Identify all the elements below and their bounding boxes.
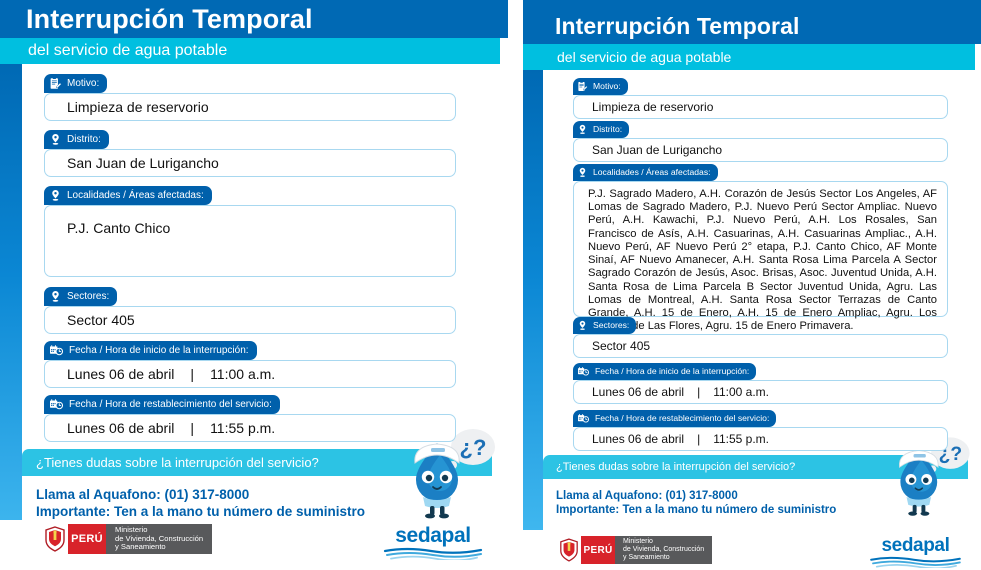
field-value-fecha-inicio[interactable]: Lunes 06 de abril | 11:00 a.m. bbox=[44, 360, 456, 388]
field-label-text: Motivo: bbox=[593, 82, 621, 91]
value-separator: | bbox=[697, 385, 700, 399]
peru-ministry-logo: PERÚ Ministerio de Vivienda, Construcció… bbox=[557, 536, 712, 564]
value-text: Limpieza de reservorio bbox=[67, 99, 209, 115]
field-label-text: Motivo: bbox=[67, 79, 99, 89]
field-label-pill-localidades: Localidades / Áreas afectadas: bbox=[573, 164, 718, 181]
value-text: San Juan de Lurigancho bbox=[592, 143, 722, 157]
notice-panel-right: Interrupción Temporal del servicio de ag… bbox=[523, 0, 981, 570]
left-gradient-strip bbox=[523, 70, 543, 530]
field-value-fecha-restablecimiento[interactable]: Lunes 06 de abril | 11:55 p.m. bbox=[573, 427, 948, 451]
field-label-text: Localidades / Áreas afectadas: bbox=[67, 191, 204, 201]
field-value-distrito[interactable]: San Juan de Lurigancho bbox=[44, 149, 456, 177]
calendar-clock-icon bbox=[49, 398, 64, 411]
peru-ministry-logo: PERÚ Ministerio de Vivienda, Construcció… bbox=[42, 524, 212, 554]
map-pin-icon bbox=[577, 124, 588, 135]
calendar-clock-icon bbox=[49, 344, 64, 357]
field-label-pill-fecha-inicio: Fecha / Hora de inicio de la interrupció… bbox=[44, 341, 257, 360]
ministry-text-block: Ministerio de Vivienda, Construcción y S… bbox=[106, 524, 212, 554]
map-pin-icon bbox=[49, 133, 62, 146]
ministry-line-1: Ministerio bbox=[623, 538, 704, 546]
field-value-fecha-restablecimiento[interactable]: Lunes 06 de abril | 11:55 p.m. bbox=[44, 414, 456, 442]
value-time: 11:00 a.m. bbox=[210, 366, 275, 382]
field-label-text: Fecha / Hora de inicio de la interrupció… bbox=[69, 346, 249, 356]
value-text: Limpieza de reservorio bbox=[592, 100, 713, 114]
value-text: P.J. Sagrado Madero, A.H. Corazón de Jes… bbox=[588, 188, 937, 333]
field-fecha-inicio: Fecha / Hora de inicio de la interrupció… bbox=[573, 363, 948, 404]
sedapal-logo: sedapal bbox=[868, 536, 963, 568]
field-localidades: Localidades / Áreas afectadas: P.J. Cant… bbox=[44, 186, 456, 277]
peru-word: PERÚ bbox=[71, 533, 103, 545]
calendar-clock-icon bbox=[577, 413, 590, 424]
field-label-text: Sectores: bbox=[67, 292, 109, 302]
peru-coat-of-arms-icon bbox=[557, 536, 581, 564]
field-label-pill-sectores: Sectores: bbox=[44, 287, 117, 306]
field-label-text: Distrito: bbox=[593, 125, 622, 134]
field-label-pill-sectores: Sectores: bbox=[573, 317, 636, 334]
peru-coat-of-arms-icon bbox=[42, 524, 68, 554]
water-waves-icon bbox=[868, 556, 963, 568]
field-label-text: Sectores: bbox=[593, 321, 629, 330]
sedapal-wordmark: sedapal bbox=[868, 536, 963, 555]
field-value-sectores[interactable]: Sector 405 bbox=[44, 306, 456, 334]
field-value-distrito[interactable]: San Juan de Lurigancho bbox=[573, 138, 948, 162]
clipboard-pencil-icon bbox=[577, 81, 588, 92]
field-label-pill-fecha-restablecimiento: Fecha / Hora de restablecimiento del ser… bbox=[44, 395, 280, 414]
map-pin-icon bbox=[577, 167, 588, 178]
screenshot-stage: Interrupción Temporal del servicio de ag… bbox=[0, 0, 981, 570]
calendar-clock-icon bbox=[577, 366, 590, 377]
value-separator: | bbox=[697, 432, 700, 446]
field-fecha-restablecimiento: Fecha / Hora de restablecimiento del ser… bbox=[573, 410, 948, 451]
panel-body: Motivo: Limpieza de reservorio Distrito:… bbox=[523, 70, 981, 570]
help-strip: ¿Tienes dudas sobre la interrupción del … bbox=[543, 455, 968, 527]
value-time: 11:55 p.m. bbox=[210, 420, 275, 436]
water-waves-icon bbox=[383, 547, 483, 560]
field-value-localidades[interactable]: P.J. Sagrado Madero, A.H. Corazón de Jes… bbox=[573, 181, 948, 317]
field-label-pill-distrito: Distrito: bbox=[44, 130, 109, 149]
field-label-pill-fecha-inicio: Fecha / Hora de inicio de la interrupció… bbox=[573, 363, 756, 380]
field-fecha-restablecimiento: Fecha / Hora de restablecimiento del ser… bbox=[44, 395, 456, 442]
peru-word: PERÚ bbox=[584, 545, 613, 556]
notice-panel-left: Interrupción Temporal del servicio de ag… bbox=[0, 0, 508, 570]
value-text: San Juan de Lurigancho bbox=[67, 155, 219, 171]
map-pin-icon bbox=[49, 189, 62, 202]
sedapal-logo: sedapal bbox=[383, 525, 483, 560]
page-subtitle: del servicio de agua potable bbox=[28, 43, 227, 59]
value-date: Lunes 06 de abril bbox=[592, 385, 684, 399]
field-label-pill-motivo: Motivo: bbox=[44, 74, 107, 93]
svg-text:¿?: ¿? bbox=[460, 435, 487, 460]
ministry-text-block: Ministerio de Vivienda, Construcción y S… bbox=[615, 536, 712, 564]
field-distrito: Distrito: San Juan de Lurigancho bbox=[573, 121, 948, 162]
panel-body: Motivo: Limpieza de reservorio Distrito:… bbox=[0, 64, 508, 570]
field-label-pill-fecha-restablecimiento: Fecha / Hora de restablecimiento del ser… bbox=[573, 410, 776, 427]
footer-left: PERÚ Ministerio de Vivienda, Construcció… bbox=[0, 520, 508, 570]
value-time: 11:55 p.m. bbox=[713, 432, 769, 446]
value-date: Lunes 06 de abril bbox=[67, 366, 174, 382]
field-value-localidades[interactable]: P.J. Canto Chico bbox=[44, 205, 456, 277]
value-text: Sector 405 bbox=[67, 312, 135, 328]
peru-word-block: PERÚ bbox=[581, 536, 615, 564]
field-label-text: Fecha / Hora de inicio de la interrupció… bbox=[595, 367, 749, 376]
header-subtitle-bar: del servicio de agua potable bbox=[0, 38, 500, 64]
ministry-line-3: y Saneamiento bbox=[623, 554, 704, 562]
page-title: Interrupción Temporal bbox=[26, 6, 313, 38]
field-label-pill-motivo: Motivo: bbox=[573, 78, 628, 95]
help-strip: ¿Tienes dudas sobre la interrupción del … bbox=[22, 449, 492, 531]
field-value-motivo[interactable]: Limpieza de reservorio bbox=[44, 93, 456, 121]
field-localidades: Localidades / Áreas afectadas: P.J. Sagr… bbox=[573, 164, 948, 317]
map-pin-icon bbox=[577, 320, 588, 331]
header-title-bar: Interrupción Temporal bbox=[0, 0, 508, 38]
ministry-line-3: y Saneamiento bbox=[115, 543, 203, 552]
value-separator: | bbox=[190, 366, 194, 382]
field-value-fecha-inicio[interactable]: Lunes 06 de abril | 11:00 a.m. bbox=[573, 380, 948, 404]
field-label-text: Fecha / Hora de restablecimiento del ser… bbox=[69, 400, 272, 410]
field-sectores: Sectores: Sector 405 bbox=[44, 287, 456, 334]
value-separator: | bbox=[190, 420, 194, 436]
value-date: Lunes 06 de abril bbox=[67, 420, 174, 436]
value-time: 11:00 a.m. bbox=[713, 385, 769, 399]
clipboard-pencil-icon bbox=[49, 77, 62, 90]
left-gradient-strip bbox=[0, 64, 22, 534]
field-value-motivo[interactable]: Limpieza de reservorio bbox=[573, 95, 948, 119]
field-label-text: Fecha / Hora de restablecimiento del ser… bbox=[595, 414, 769, 423]
peru-word-block: PERÚ bbox=[68, 524, 106, 554]
help-question-text: ¿Tienes dudas sobre la interrupción del … bbox=[556, 461, 795, 473]
footer-right: PERÚ Ministerio de Vivienda, Construcció… bbox=[523, 533, 981, 570]
field-label-text: Localidades / Áreas afectadas: bbox=[593, 168, 711, 177]
page-subtitle: del servicio de agua potable bbox=[557, 50, 731, 64]
value-date: Lunes 06 de abril bbox=[592, 432, 684, 446]
field-label-pill-localidades: Localidades / Áreas afectadas: bbox=[44, 186, 212, 205]
header-subtitle-bar: del servicio de agua potable bbox=[523, 44, 975, 70]
value-text: P.J. Canto Chico bbox=[67, 220, 170, 236]
field-motivo: Motivo: Limpieza de reservorio bbox=[573, 78, 948, 119]
field-value-sectores[interactable]: Sector 405 bbox=[573, 334, 948, 358]
value-text: Sector 405 bbox=[592, 339, 650, 353]
map-pin-icon bbox=[49, 290, 62, 303]
field-label-text: Distrito: bbox=[67, 135, 101, 145]
field-motivo: Motivo: Limpieza de reservorio bbox=[44, 74, 456, 121]
ministry-line-2: de Vivienda, Construcción bbox=[623, 546, 704, 554]
sedapal-wordmark: sedapal bbox=[383, 525, 483, 546]
field-label-pill-distrito: Distrito: bbox=[573, 121, 629, 138]
help-question-text: ¿Tienes dudas sobre la interrupción del … bbox=[36, 455, 319, 470]
field-distrito: Distrito: San Juan de Lurigancho bbox=[44, 130, 456, 177]
header-title-bar: Interrupción Temporal bbox=[523, 0, 981, 44]
page-title: Interrupción Temporal bbox=[555, 15, 799, 44]
field-fecha-inicio: Fecha / Hora de inicio de la interrupció… bbox=[44, 341, 456, 388]
